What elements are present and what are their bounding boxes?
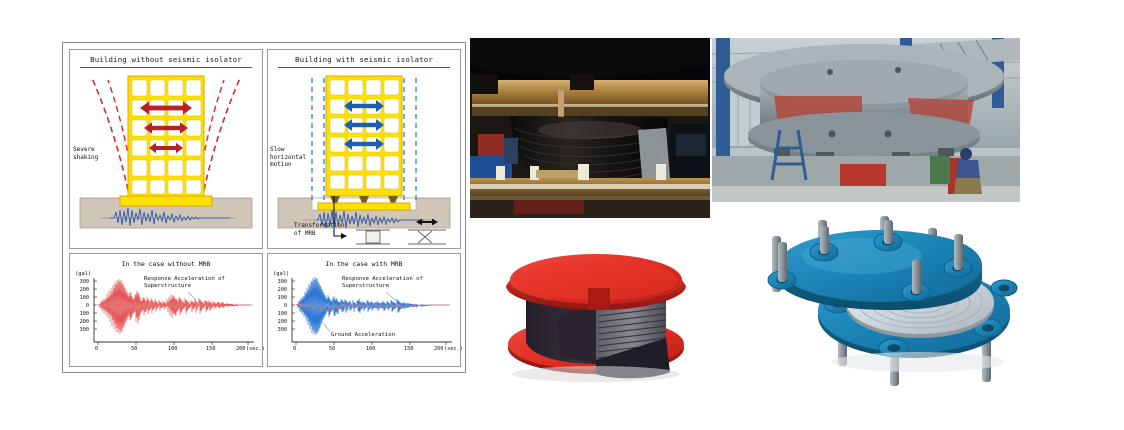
annotation-response-acceleration: Response Acceleration of Superstructure [144,276,225,290]
annotation-ground-acceleration: Ground Acceleration [331,332,395,339]
chart-with-plot [268,254,460,366]
label-severe-shaking: Severe shaking [73,146,98,161]
render-red-rubber-bearing [492,240,700,386]
xtick: 200 [236,346,245,352]
photo-factory-graphic [712,38,1020,202]
photo-factory-assembly [712,38,1020,202]
diagram-building-with-isolator: Building with seismic isolator [267,49,461,249]
xtick: 100 [168,346,177,352]
label-slow-horizontal-motion: Slow horizontal motion [270,146,306,169]
xtick: 0 [293,346,296,352]
photo-bearing-test-rig [470,38,710,218]
render-blue-bearing-graphic [742,212,1032,390]
diagram-building-without-isolator: Building without seismic isolator [69,49,263,249]
seismic-isolation-figure-panel: Building without seismic isolator [62,42,466,373]
xtick: 50 [329,346,335,352]
annotation-response-acceleration-2: Response Acceleration of Superstructure [342,276,423,290]
building-without-isolator-graphic [70,50,262,248]
chart-without-xlabel: (sec.) [246,346,265,352]
xtick: 100 [366,346,375,352]
chart-without-plot [70,254,262,366]
xtick: 200 [434,346,443,352]
xtick: 50 [131,346,137,352]
render-red-bearing-graphic [492,240,700,386]
photo-bearing-test-graphic [470,38,710,218]
xtick: 150 [206,346,215,352]
render-blue-sliding-bearing [742,212,1032,390]
chart-with-mrb: In the case with MRB (gal) 300 200 100 0… [267,253,461,367]
chart-with-xlabel: (sec.) [444,346,463,352]
xtick: 0 [95,346,98,352]
xtick: 150 [404,346,413,352]
label-transformation-of-mrb: Transformation of MRB [294,222,345,238]
chart-without-mrb: In the case without MRB (gal) 300 200 10… [69,253,263,367]
